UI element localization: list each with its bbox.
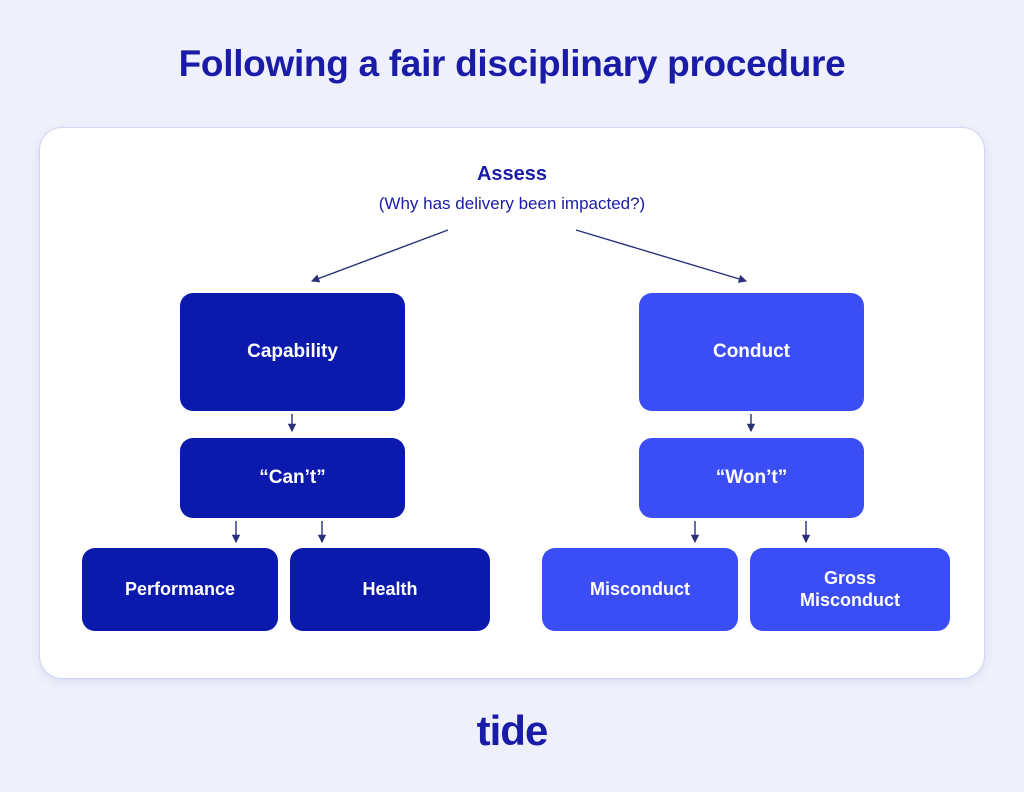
brand-logo: tide xyxy=(0,707,1024,755)
node-cant[interactable]: “Can’t” xyxy=(180,438,405,518)
gross-misconduct-line1: Gross xyxy=(824,568,876,588)
node-conduct[interactable]: Conduct xyxy=(639,293,864,411)
gross-misconduct-line2: Misconduct xyxy=(800,590,900,610)
assess-heading: Assess xyxy=(40,163,984,186)
node-misconduct[interactable]: Misconduct xyxy=(542,548,738,631)
node-performance[interactable]: Performance xyxy=(82,548,278,631)
node-health[interactable]: Health xyxy=(290,548,490,631)
diagram-card: Assess (Why has delivery been impacted?)… xyxy=(40,128,984,678)
node-capability[interactable]: Capability xyxy=(180,293,405,411)
node-gross-misconduct[interactable]: Gross Misconduct xyxy=(750,548,950,631)
node-wont[interactable]: “Won’t” xyxy=(639,438,864,518)
page-title: Following a fair disciplinary procedure xyxy=(0,43,1024,85)
assess-subheading: (Why has delivery been impacted?) xyxy=(40,194,984,214)
